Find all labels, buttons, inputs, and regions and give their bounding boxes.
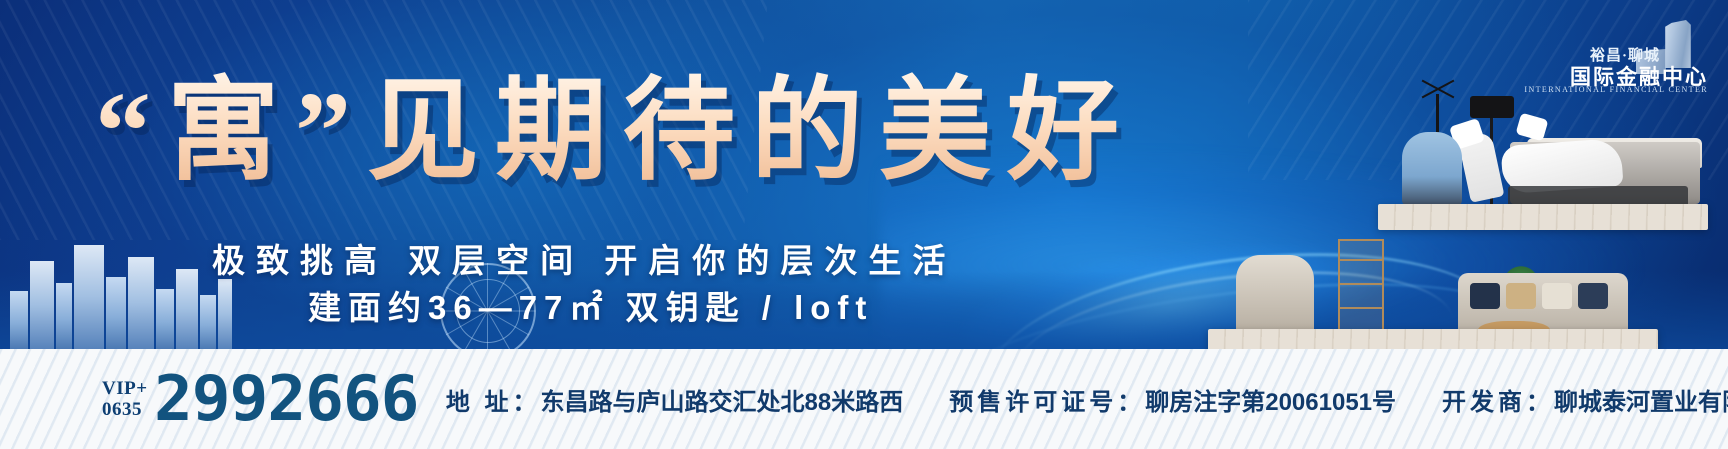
subheadline-features: 极致挑高 双层空间 开启你的层次生活 — [212, 234, 1232, 282]
footer-bar: VIP+ 0635 2992666 地 址： 东昌路与庐山路交汇处北88米路西 … — [0, 349, 1728, 449]
info-item-developer: 开发商： 聊城泰河置业有限公司 — [1442, 382, 1728, 417]
spec-area: 建面约36—77 — [308, 289, 569, 326]
living-room-photo — [1208, 215, 1658, 349]
footer-info-list: 地 址： 东昌路与庐山路交汇处北88米路西 预售许可证号： 聊房注字第20061… — [446, 382, 1728, 417]
phone-block[interactable]: VIP+ 0635 2992666 — [102, 368, 408, 430]
hero-background: 裕昌·聊城 国际金融中心 INTERNATIONAL FINANCIAL CEN… — [0, 0, 1728, 349]
pillow-2 — [1516, 113, 1549, 142]
blue-armchair — [1402, 132, 1462, 206]
info-value: 聊城泰河置业有限公司 — [1554, 382, 1728, 417]
info-value: 东昌路与庐山路交汇处北88米路西 — [541, 382, 904, 417]
real-estate-banner: 裕昌·聊城 国际金融中心 INTERNATIONAL FINANCIAL CEN… — [0, 0, 1728, 449]
phone-number[interactable]: 2992666 — [154, 368, 418, 430]
floor-lamp-shade — [1470, 96, 1514, 118]
spec-unit: ㎡ — [569, 289, 609, 326]
vip-prefix-block: VIP+ 0635 — [102, 378, 148, 420]
project-logo[interactable]: 裕昌·聊城 国际金融中心 INTERNATIONAL FINANCIAL CEN… — [1540, 22, 1716, 92]
info-label: 预售许可证号： — [949, 382, 1145, 417]
info-label: 开发商： — [1442, 382, 1554, 417]
info-item-license: 预售许可证号： 聊房注字第20061051号 — [949, 382, 1396, 417]
lower-floor-planks — [1208, 329, 1658, 349]
bookshelf — [1338, 239, 1384, 333]
subheadline-specs: 建面约36—77㎡ 双钥匙 / loft — [308, 281, 1268, 329]
info-item-address: 地 址： 东昌路与庐山路交汇处北88米路西 — [446, 382, 903, 417]
logo-line-3: INTERNATIONAL FINANCIAL CENTER — [1524, 85, 1708, 94]
info-label: 地 址： — [446, 382, 541, 417]
spec-type: 双钥匙 / loft — [626, 289, 874, 326]
info-value: 聊房注字第20061051号 — [1145, 382, 1396, 417]
page-title: “寓”见期待的美好 — [95, 72, 1225, 192]
area-code: 0635 — [102, 399, 142, 420]
vip-label: VIP+ — [102, 378, 148, 399]
left-buildings-illustration — [6, 229, 236, 349]
